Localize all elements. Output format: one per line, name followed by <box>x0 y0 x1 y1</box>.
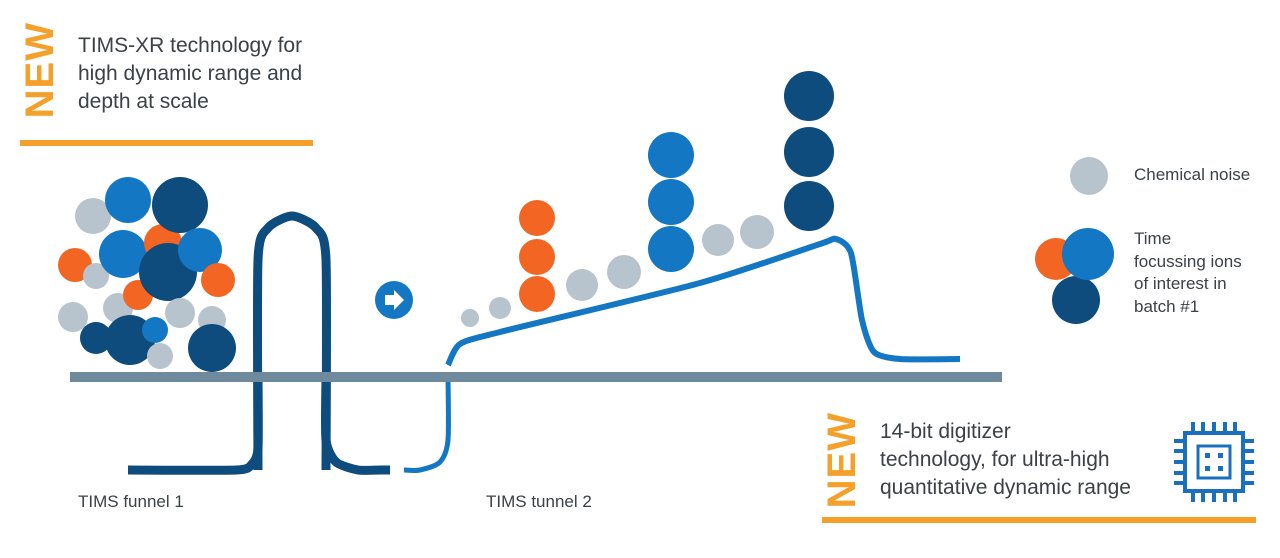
noise-gray-4 <box>702 224 734 256</box>
new-badge-bottom: NEW <box>822 412 862 508</box>
navy-stack-circle-0 <box>784 71 834 121</box>
noise-gray-0 <box>461 309 479 327</box>
g-funnel1-curve-seg-2 <box>325 377 390 470</box>
g-funnel1-curve-seg-0 <box>257 216 326 470</box>
legend-swatch-chemical-noise <box>1070 157 1108 195</box>
orange-stack-circle-2 <box>519 276 555 312</box>
callout-bottom-body: 14-bit digitizer technology, for ultra-h… <box>880 418 1131 502</box>
g-tunnel2-entry-seg-0 <box>404 377 448 470</box>
ion-orange-17 <box>201 263 235 297</box>
accent-rule-top <box>20 140 313 146</box>
blue-stack-circle-2 <box>648 226 694 272</box>
callout-14-bit-digitizer: NEW 14-bit digitizer technology, for ult… <box>822 412 1131 508</box>
orange-stack-circle-0 <box>519 200 555 236</box>
blue-stack-circle-1 <box>648 179 694 225</box>
ion-blue-10 <box>142 317 168 343</box>
callout-top-text: TIMS-XR technology for high dynamic rang… <box>78 32 302 116</box>
blue-stack <box>648 132 694 272</box>
ion-navy-19 <box>188 324 236 372</box>
orange-stack-circle-1 <box>519 239 555 275</box>
orange-stack <box>519 200 555 312</box>
noise-gray-3 <box>607 255 641 289</box>
navy-stack-circle-1 <box>784 127 834 177</box>
chip-icon <box>1168 416 1260 508</box>
baseline-rect <box>70 372 1002 382</box>
ion-gray-1 <box>58 302 88 332</box>
ion-packet-stacks <box>519 71 834 312</box>
chemical-noise-train <box>461 215 774 327</box>
noise-gray-2 <box>566 269 598 301</box>
ion-navy-13 <box>152 177 208 233</box>
ion-gray-11 <box>147 343 173 369</box>
callout-tims-xr: NEW TIMS-XR technology for high dynamic … <box>20 22 302 118</box>
blue-stack-circle-0 <box>648 132 694 178</box>
legend-swatch-ions-of-interest <box>1035 228 1114 324</box>
navy-stack <box>784 71 834 231</box>
navy-stack-circle-2 <box>784 181 834 231</box>
diagram-canvas: NEW TIMS-XR technology for high dynamic … <box>0 0 1280 558</box>
noise-gray-5 <box>740 215 774 249</box>
new-badge-top: NEW <box>20 22 60 118</box>
ion-gray-16 <box>165 298 195 328</box>
accent-rule-bottom <box>822 517 1256 523</box>
tims-tunnel-2-entry-curve <box>404 377 448 470</box>
g-funnel1-curve-seg-1 <box>128 377 258 470</box>
baseline-bar <box>70 372 1002 382</box>
label-tims-funnel-1: TIMS funnel 1 <box>78 492 184 512</box>
ion-blue-5 <box>105 177 151 223</box>
callout-bottom-title: 14-bit digitizer <box>880 418 1131 446</box>
arrow-right-circle-icon <box>375 281 413 319</box>
legend-label-chemical-noise: Chemical noise <box>1134 164 1250 187</box>
noise-gray-1 <box>489 297 511 319</box>
legend-label-ions-of-interest: Time focussing ions of interest in batch… <box>1134 228 1242 318</box>
callout-bottom-text: technology, for ultra-high quantitative … <box>880 446 1131 502</box>
label-tims-tunnel-2: TIMS tunnel 2 <box>486 492 592 512</box>
ion-cloud-funnel-1 <box>58 177 236 372</box>
